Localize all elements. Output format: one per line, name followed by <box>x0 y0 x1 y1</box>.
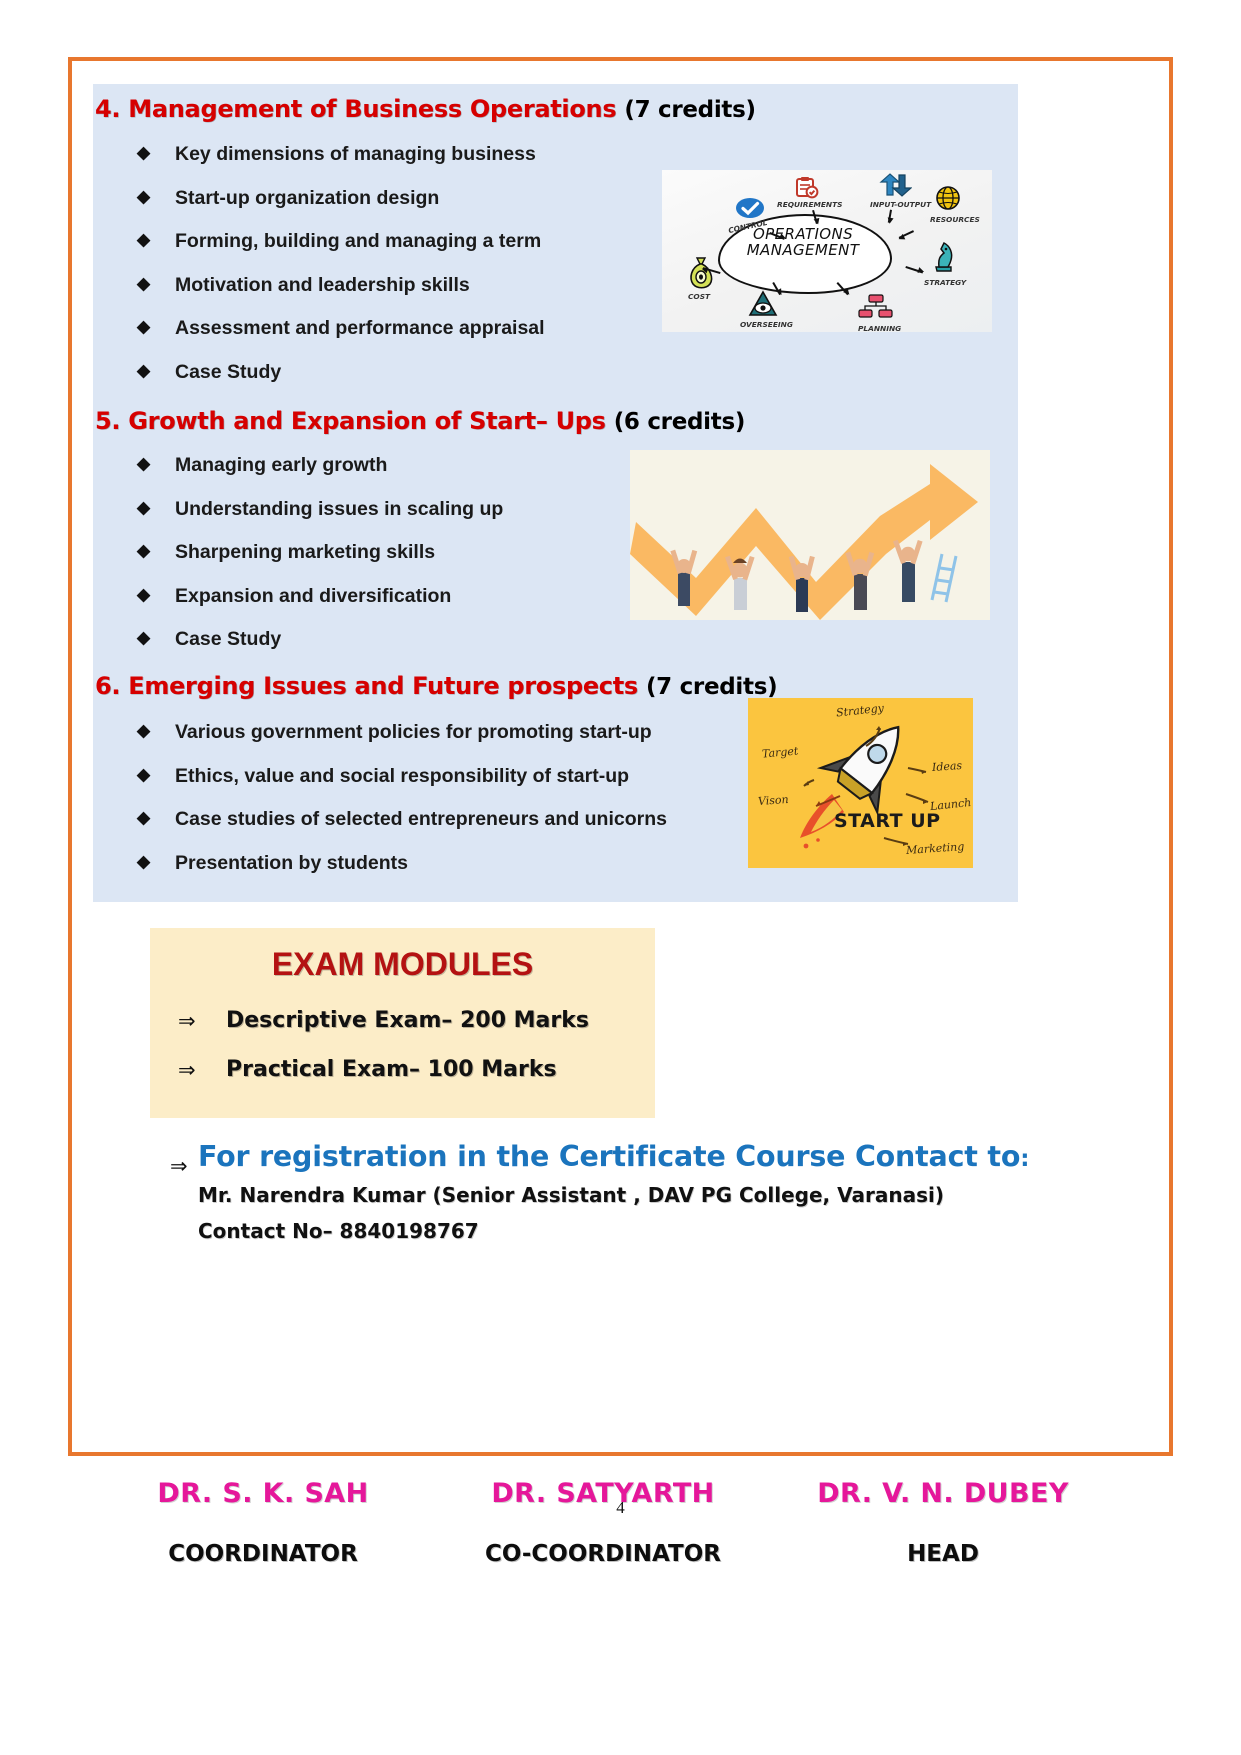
list-item-text: Understanding issues in scaling up <box>175 498 503 520</box>
double-arrow-bullet-icon: ⇒ <box>178 1058 196 1082</box>
registration-heading: For registration in the Certificate Cour… <box>198 1140 1070 1173</box>
diamond-bullet-icon: ◆ <box>137 499 150 516</box>
list-item-text: Motivation and leadership skills <box>175 274 470 296</box>
section-number: 5. <box>95 407 120 435</box>
rocket-label-vison: Vison <box>758 793 789 808</box>
rocket-label-ideas: Ideas <box>932 759 963 774</box>
section-number: 4. <box>95 95 120 123</box>
operations-label-strategy: STRATEGY <box>924 278 966 287</box>
list-item-text: Case Study <box>175 628 281 650</box>
list-item: ◆Start-up organization design <box>115 189 545 209</box>
list-item-text: Expansion and diversification <box>175 585 451 607</box>
registration-heading-colon: : <box>1020 1146 1029 1172</box>
operations-label-input-output: INPUT-OUTPUT <box>870 200 931 209</box>
list-item: ◆Case Study <box>115 630 503 650</box>
section-credits: (7 credits) <box>646 674 777 700</box>
section-heading-4: 4. Management of Business Operations (7 … <box>95 95 756 123</box>
diamond-bullet-icon: ◆ <box>137 318 150 335</box>
list-item-text: Case studies of selected entrepreneurs a… <box>175 808 667 830</box>
registration-contact-number: Contact No– 8840198767 <box>198 1219 1070 1243</box>
list-item: ◆Assessment and performance appraisal <box>115 319 545 339</box>
list-item: ◆Understanding issues in scaling up <box>115 500 503 520</box>
list-item: ◆Presentation by students <box>115 854 667 874</box>
arrow-icon <box>899 231 914 239</box>
list-item: ◆Sharpening marketing skills <box>115 543 503 563</box>
org-chart-icon <box>858 294 894 322</box>
list-item-text: Case Study <box>175 361 281 383</box>
signature-block-co-coordinator: DR. SATYARTH CO-COORDINATOR <box>453 1478 753 1567</box>
exam-modules-title: EXAM MODULES <box>150 946 655 983</box>
list-item-text: Sharpening marketing skills <box>175 541 435 563</box>
operations-management-illustration: OPERATIONS MANAGEMENT REQUIREMENTS INPUT… <box>662 170 992 332</box>
section-6-bullet-list: ◆Various government policies for promoti… <box>115 723 667 873</box>
signature-row: DR. S. K. SAH COORDINATOR DR. SATYARTH C… <box>93 1478 1113 1567</box>
diamond-bullet-icon: ◆ <box>137 629 150 646</box>
list-item: ◆Managing early growth <box>115 456 503 476</box>
list-item-text: Various government policies for promotin… <box>175 721 652 743</box>
section-title: Emerging Issues and Future prospects <box>128 672 638 700</box>
signature-block-coordinator: DR. S. K. SAH COORDINATOR <box>113 1478 413 1567</box>
exam-item-text: Practical Exam– 100 Marks <box>226 1057 557 1082</box>
list-item: ◆Case studies of selected entrepreneurs … <box>115 810 667 830</box>
diamond-bullet-icon: ◆ <box>137 275 150 292</box>
list-item: ◆Key dimensions of managing business <box>115 145 545 165</box>
list-item-text: Presentation by students <box>175 852 408 874</box>
operations-label-planning: PLANNING <box>858 324 901 332</box>
document-page: 4. Management of Business Operations (7 … <box>0 0 1241 1755</box>
arrow-icon <box>888 210 892 223</box>
double-arrow-bullet-icon: ⇒ <box>170 1154 188 1179</box>
diamond-bullet-icon: ◆ <box>137 853 150 870</box>
list-item-text: Key dimensions of managing business <box>175 143 536 165</box>
money-bag-icon <box>686 256 716 290</box>
operations-label-requirements: REQUIREMENTS <box>777 200 842 209</box>
registration-line: ⇒ For registration in the Certificate Co… <box>150 1140 1070 1243</box>
list-item-text: Managing early growth <box>175 454 387 476</box>
exam-item-text: Descriptive Exam– 200 Marks <box>226 1008 589 1033</box>
section-heading-6: 6. Emerging Issues and Future prospects … <box>95 672 777 700</box>
double-arrow-bullet-icon: ⇒ <box>178 1009 196 1033</box>
list-item: ⇒ Practical Exam– 100 Marks <box>178 1057 589 1082</box>
list-item: ◆Various government policies for promoti… <box>115 723 667 743</box>
chess-knight-icon <box>930 240 956 274</box>
registration-heading-text: For registration in the Certificate Cour… <box>198 1140 1020 1173</box>
section-4-bullet-list: ◆Key dimensions of managing business ◆St… <box>115 145 545 382</box>
list-item: ◆Case Study <box>115 363 545 383</box>
signature-role: HEAD <box>793 1541 1093 1567</box>
check-circle-icon <box>734 196 766 220</box>
diamond-bullet-icon: ◆ <box>137 542 150 559</box>
operations-line-2: MANAGEMENT <box>722 242 884 258</box>
registration-block: ⇒ For registration in the Certificate Co… <box>150 1140 1070 1243</box>
registration-contact-person: Mr. Narendra Kumar (Senior Assistant , D… <box>198 1183 1070 1207</box>
operations-label-overseeing: OVERSEEING <box>740 320 793 329</box>
section-title: Management of Business Operations <box>128 95 616 123</box>
section-credits: (7 credits) <box>624 97 755 123</box>
list-item-text: Ethics, value and social responsibility … <box>175 765 629 787</box>
diamond-bullet-icon: ◆ <box>137 362 150 379</box>
growth-chart-illustration <box>630 450 990 620</box>
signature-role: CO-COORDINATOR <box>453 1541 753 1567</box>
diamond-bullet-icon: ◆ <box>137 722 150 739</box>
section-title: Growth and Expansion of Start– Ups <box>128 407 605 435</box>
globe-icon <box>934 184 962 212</box>
operations-label-cost: COST <box>688 292 710 301</box>
list-item-text: Start-up organization design <box>175 187 439 209</box>
diamond-bullet-icon: ◆ <box>137 586 150 603</box>
section-credits: (6 credits) <box>614 409 745 435</box>
section-heading-5: 5. Growth and Expansion of Start– Ups (6… <box>95 407 745 435</box>
list-item: ◆Ethics, value and social responsibility… <box>115 767 667 787</box>
list-item: ◆Motivation and leadership skills <box>115 276 545 296</box>
signature-role: COORDINATOR <box>113 1541 413 1567</box>
eye-triangle-icon <box>748 290 778 318</box>
rocket-caption: START UP <box>834 810 941 832</box>
exam-modules-list: ⇒ Descriptive Exam– 200 Marks ⇒ Practica… <box>178 1008 589 1106</box>
diamond-bullet-icon: ◆ <box>137 188 150 205</box>
diamond-bullet-icon: ◆ <box>137 455 150 472</box>
startup-rocket-illustration: Strategy Target Vison Ideas Launch Marke… <box>748 698 973 868</box>
list-item: ◆Expansion and diversification <box>115 587 503 607</box>
section-number: 6. <box>95 672 120 700</box>
arrow-icon <box>906 266 924 273</box>
list-item-text: Assessment and performance appraisal <box>175 317 545 339</box>
signature-block-head: DR. V. N. DUBEY HEAD <box>793 1478 1093 1567</box>
growth-arrow-graphic <box>630 450 990 620</box>
diamond-bullet-icon: ◆ <box>137 809 150 826</box>
list-item: ◆Forming, building and managing a term <box>115 232 545 252</box>
diamond-bullet-icon: ◆ <box>137 144 150 161</box>
diamond-bullet-icon: ◆ <box>137 231 150 248</box>
diamond-bullet-icon: ◆ <box>137 766 150 783</box>
list-item-text: Forming, building and managing a term <box>175 230 541 252</box>
exam-modules-box: EXAM MODULES ⇒ Descriptive Exam– 200 Mar… <box>150 928 655 1118</box>
input-output-arrows-icon <box>878 173 912 197</box>
clipboard-icon <box>794 176 820 200</box>
operations-label-resources: RESOURCES <box>930 215 980 224</box>
list-item: ⇒ Descriptive Exam– 200 Marks <box>178 1008 589 1033</box>
section-5-bullet-list: ◆Managing early growth ◆Understanding is… <box>115 456 503 650</box>
page-number: 4 <box>0 1498 1241 1518</box>
